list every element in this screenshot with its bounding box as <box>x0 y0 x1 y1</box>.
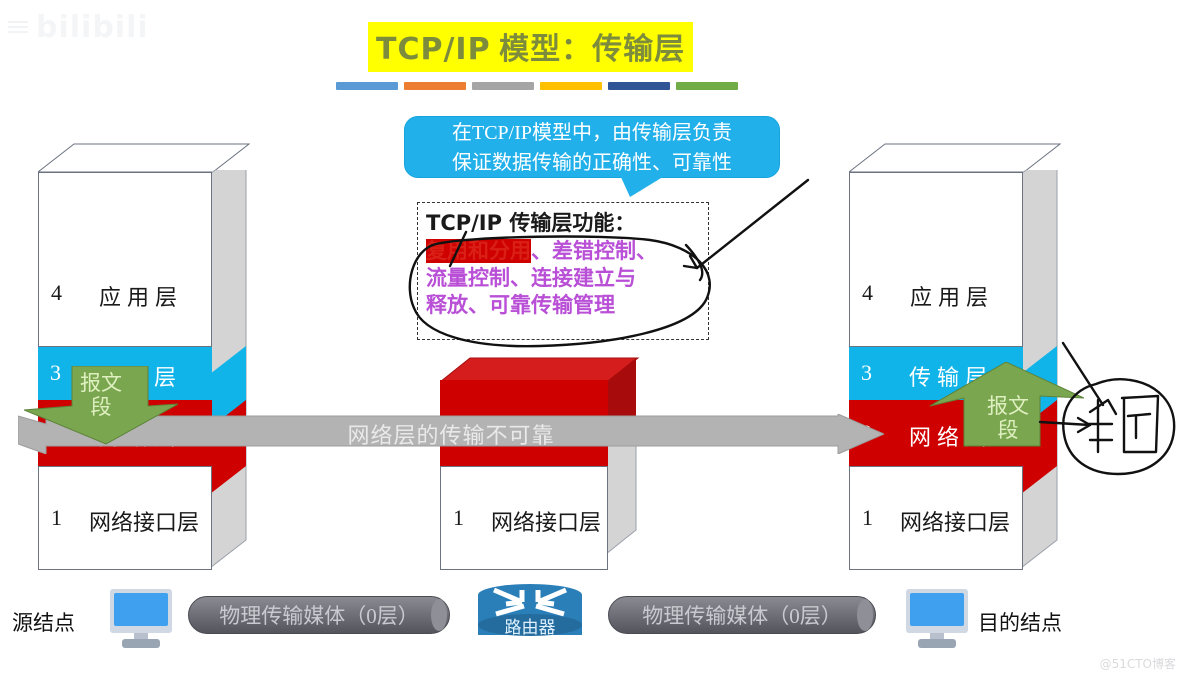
segment-down-line1: 报文 <box>24 371 178 395</box>
bubble-tail <box>620 175 666 197</box>
source-layer-netif: 1 网络接口层 <box>38 466 212 570</box>
segment-arrow-down: 报文 段 <box>24 366 178 446</box>
functions-highlight: 复用和分用 <box>426 239 531 263</box>
destination-layer-application: 4 应用层 <box>849 172 1023 347</box>
segment-up-line2: 段 <box>948 418 1068 442</box>
source-layer-1-name: 网络接口层 <box>89 505 199 537</box>
monitor-screen <box>906 589 968 633</box>
bilibili-wordmark: bilibili <box>36 10 149 45</box>
page-title-chinese: 模型：传输层 <box>491 33 686 66</box>
router-icon: 路由器 <box>478 584 582 646</box>
source-node-label: 源结点 <box>12 607 75 637</box>
physical-medium-left: 物理传输媒体（0层） <box>188 596 450 634</box>
segment-arrow-up-label: 报文 段 <box>948 394 1068 442</box>
decor-bar-1 <box>404 82 466 90</box>
page-title: TCP/IP 模型：传输层 <box>368 22 693 72</box>
monitor-base <box>918 639 956 648</box>
corner-watermark: @51CTO博客 <box>1100 655 1176 672</box>
stack-side-source <box>210 170 252 600</box>
decor-bar-row <box>336 82 736 90</box>
functions-rest-3: 释放、可靠传输管理 <box>426 293 615 317</box>
physical-medium-right: 物理传输媒体（0层） <box>608 596 876 634</box>
destination-layer-1-number: 1 <box>862 505 873 531</box>
cylinder-cap-left <box>431 599 447 631</box>
segment-arrow-down-label: 报文 段 <box>24 371 178 419</box>
source-layer-4-number: 4 <box>51 280 62 306</box>
physical-medium-left-label: 物理传输媒体（0层） <box>219 600 419 630</box>
decor-bar-3 <box>540 82 602 90</box>
router-layer-1-number: 1 <box>453 505 464 531</box>
stack-side-router <box>606 356 642 556</box>
destination-layer-4-number: 4 <box>862 280 873 306</box>
physical-medium-right-label: 物理传输媒体（0层） <box>642 600 842 630</box>
source-monitor-icon <box>110 589 172 647</box>
decor-bar-2 <box>472 82 534 90</box>
cylinder-cap-right <box>857 599 873 631</box>
router-label: 路由器 <box>478 613 582 638</box>
page-title-latin: TCP/IP <box>376 32 491 67</box>
segment-arrow-up: 报文 段 <box>930 362 1084 448</box>
destination-protocol-stack: 4 应用层 3 传输层 2 网络层 1 网络接口层 <box>849 144 1059 570</box>
destination-layer-4-name: 应用层 <box>910 280 994 312</box>
functions-box-header: TCP/IP 传输层功能： <box>426 207 702 237</box>
source-layer-1-number: 1 <box>51 505 62 531</box>
source-layer-4-name: 应用层 <box>99 280 183 312</box>
transport-functions-box: TCP/IP 传输层功能： 复用和分用、差错控制、 流量控制、连接建立与 释放、… <box>417 202 709 340</box>
bilibili-watermark: bilibili <box>8 8 178 50</box>
monitor-screen <box>110 589 172 633</box>
bubble-line-1: 在TCP/IP模型中，由传输层负责 <box>405 118 779 148</box>
router-layer-1-name: 网络接口层 <box>491 505 601 537</box>
bubble-line-2: 保证数据传输的正确性、可靠性 <box>405 148 779 178</box>
decor-bar-0 <box>336 82 398 90</box>
source-layer-application: 4 应用层 <box>38 172 212 347</box>
functions-box-body: 复用和分用、差错控制、 流量控制、连接建立与 释放、可靠传输管理 <box>426 238 702 319</box>
destination-monitor-icon <box>906 589 968 647</box>
destination-layer-netif: 1 网络接口层 <box>849 466 1023 570</box>
decor-bar-4 <box>608 82 670 90</box>
segment-down-line2: 段 <box>24 395 178 419</box>
slide-canvas: bilibili TCP/IP 模型：传输层 在TCP/IP模型中，由传输层负责… <box>0 0 1184 676</box>
destination-node-label: 目的结点 <box>978 607 1062 637</box>
router-layer-netif: 1 网络接口层 <box>440 466 608 570</box>
router-protocol-stack: 网络层 1 网络接口层 <box>440 378 640 570</box>
functions-rest-2: 流量控制、连接建立与 <box>426 266 636 290</box>
source-protocol-stack: 4 应用层 3 传输层 2 网络层 1 网络接口层 <box>38 144 248 570</box>
monitor-base <box>122 639 160 648</box>
transport-callout-bubble: 在TCP/IP模型中，由传输层负责 保证数据传输的正确性、可靠性 <box>404 116 780 178</box>
decor-bar-5 <box>676 82 738 90</box>
segment-up-line1: 报文 <box>948 394 1068 418</box>
destination-layer-1-name: 网络接口层 <box>900 505 1010 537</box>
functions-rest-1: 、差错控制、 <box>531 239 657 263</box>
destination-layer-3-number: 3 <box>861 360 872 386</box>
menu-icon <box>8 21 28 33</box>
